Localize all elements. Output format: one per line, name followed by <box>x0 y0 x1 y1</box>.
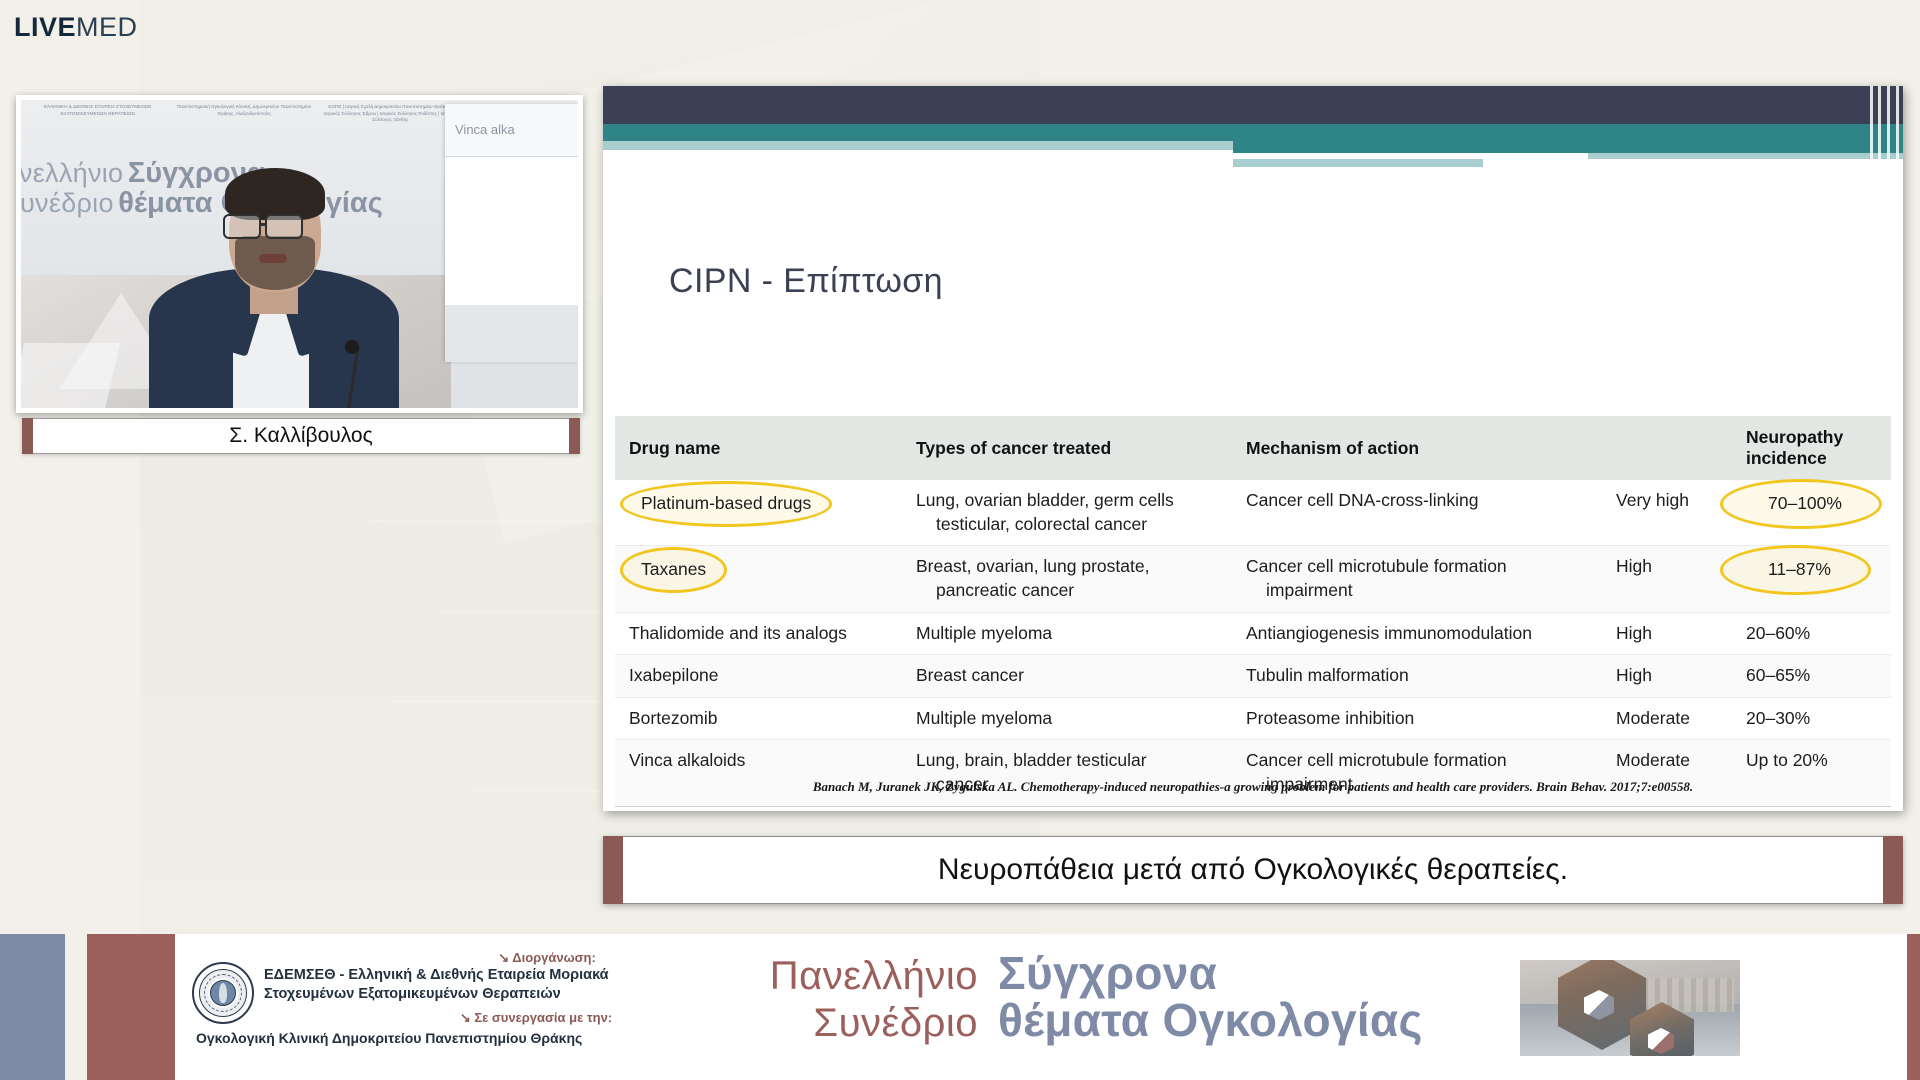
conference-branding: Πανελλήνιο Σύγχρονα Συνέδριο θέματα Ογκο… <box>718 950 1423 1044</box>
speaker-name-plate: Σ. Καλλίβουλος <box>22 418 580 454</box>
cell-incidence: 70–100% <box>1732 480 1891 546</box>
column-header-mechanism: Mechanism of action <box>1232 416 1602 480</box>
footer-red-block <box>87 934 175 1080</box>
slide-accent-bar-a <box>603 141 1233 150</box>
footer-right-red-edge <box>1907 934 1920 1080</box>
video-frame: ΕΛΛΗΝΙΚΗ & ΔΙΕΘΝΗΣ ΕΤΑΙΡΕΙΑ ΣΤΟΧΕΥΜΕΝΩΝ … <box>21 100 578 408</box>
conference-line1-right: Σύγχρονα <box>998 950 1217 997</box>
cell-mechanism: Tubulin malformation <box>1232 655 1602 698</box>
column-header-incidence: Neuropathy incidence <box>1732 416 1891 480</box>
conference-line2-right: θέματα Ογκολογίας <box>998 997 1423 1044</box>
backdrop-header-col3: ΕΟΠΕ | Ιατρική Σχολή Δημοκριτείου Πανεπι… <box>322 104 459 124</box>
talk-caption-text: Νευροπάθεια μετά από Ογκολογικές θεραπεί… <box>938 853 1568 887</box>
backdrop-header-text: ΕΛΛΗΝΙΚΗ & ΔΙΕΘΝΗΣ ΕΤΑΙΡΕΙΑ ΣΤΟΧΕΥΜΕΝΩΝ … <box>29 104 459 124</box>
cell-cancer-types: Multiple myeloma <box>902 697 1232 740</box>
table-row: TaxanesBreast, ovarian, lung prostate,pa… <box>615 546 1891 612</box>
table-header-row: Drug name Types of cancer treated Mechan… <box>615 416 1891 480</box>
drug-name-highlight: Platinum-based drugs <box>629 489 823 519</box>
incidence-highlight: 70–100% <box>1746 489 1864 519</box>
conference-line2-left: Συνέδριο <box>718 1003 978 1044</box>
cell-level: High <box>1602 655 1732 698</box>
table-row: Thalidomide and its analogsMultiple myel… <box>615 612 1891 655</box>
cell-level: High <box>1602 612 1732 655</box>
backdrop-line2-left: Συνέδριο <box>21 188 114 218</box>
cell-incidence: 11–87% <box>1732 546 1891 612</box>
page-footer: ↘ Διοργάνωση: ΕΔΕΜΣΕΘ - Ελληνική & Διεθν… <box>0 934 1920 1080</box>
cell-level: Very high <box>1602 480 1732 546</box>
talk-caption-bar: Νευροπάθεια μετά από Ογκολογικές θεραπεί… <box>603 836 1903 904</box>
slide-accent-bar-b <box>1233 141 1903 153</box>
cell-incidence: 20–30% <box>1732 697 1891 740</box>
backdrop-header-col2: Πανεπιστημιακή Ογκολογική Κλινική, Δημοκ… <box>175 104 312 124</box>
conference-line1-left: Πανελλήνιο <box>718 956 978 997</box>
column-header-cancer-types: Types of cancer treated <box>902 416 1232 480</box>
projected-slide-title: Vinca alka <box>455 122 515 137</box>
microphone-icon <box>345 340 359 354</box>
cell-cancer-types: Lung, brain, bladder testicularcancer <box>902 740 1232 806</box>
cell-cancer-types: Multiple myeloma <box>902 612 1232 655</box>
slide-accent-bar-e <box>1483 159 1903 167</box>
cell-cancer-types: Breast, ovarian, lung prostate,pancreati… <box>902 546 1232 612</box>
speaker-name: Σ. Καλλίβουλος <box>229 424 372 448</box>
logo-text-live: LIVE <box>14 12 76 42</box>
livemed-logo: LIVEMED <box>14 14 138 41</box>
logo-text-med: MED <box>76 12 138 42</box>
slide-vertical-stripes <box>1859 86 1903 176</box>
cipn-incidence-table: Drug name Types of cancer treated Mechan… <box>615 416 1891 807</box>
table-row: BortezomibMultiple myelomaProteasome inh… <box>615 697 1891 740</box>
backdrop-header-col1: ΕΛΛΗΝΙΚΗ & ΔΙΕΘΝΗΣ ΕΤΑΙΡΕΙΑ ΣΤΟΧΕΥΜΕΝΩΝ … <box>29 104 166 124</box>
cell-incidence: Up to 20% <box>1732 740 1891 806</box>
cell-drug-name: Thalidomide and its analogs <box>615 612 902 655</box>
backdrop-line1-left: ανελλήνιο <box>21 158 123 188</box>
cell-level: High <box>1602 546 1732 612</box>
cell-drug-name: Bortezomib <box>615 697 902 740</box>
table-row: Platinum-based drugsLung, ovarian bladde… <box>615 480 1891 546</box>
table-row: IxabepiloneBreast cancerTubulin malforma… <box>615 655 1891 698</box>
slide-accent-bar-f <box>1588 153 1903 159</box>
slide-accent-bar-d <box>1233 159 1483 167</box>
slide-header-teal-band <box>603 124 1903 141</box>
cell-drug-name: Vinca alkaloids <box>615 740 902 806</box>
table-row: Vinca alkaloidsLung, brain, bladder test… <box>615 740 1891 806</box>
cell-level: Moderate <box>1602 740 1732 806</box>
slide-header-navy-band <box>603 86 1903 124</box>
cell-mechanism: Antiangiogenesis immunomodulation <box>1232 612 1602 655</box>
cell-drug-name: Platinum-based drugs <box>615 480 902 546</box>
column-header-level <box>1602 416 1732 480</box>
cell-mechanism: Proteasome inhibition <box>1232 697 1602 740</box>
cell-level: Moderate <box>1602 697 1732 740</box>
cell-drug-name: Ixabepilone <box>615 655 902 698</box>
speaker-video-player[interactable]: ΕΛΛΗΝΙΚΗ & ΔΙΕΘΝΗΣ ΕΤΑΙΡΕΙΑ ΣΤΟΧΕΥΜΕΝΩΝ … <box>16 95 583 413</box>
glasses-icon <box>223 214 261 239</box>
cell-mechanism: Cancer cell microtubule formationimpairm… <box>1232 740 1602 806</box>
presentation-slide: CIPN - Επίπτωση Drug name Types of cance… <box>603 86 1903 811</box>
cell-mechanism: Cancer cell microtubule formationimpairm… <box>1232 546 1602 612</box>
cell-cancer-types: Lung, ovarian bladder, germ cellstesticu… <box>902 480 1232 546</box>
cell-cancer-types: Breast cancer <box>902 655 1232 698</box>
footer-gap <box>65 934 87 1080</box>
cell-mechanism: Cancer cell DNA-cross-linking <box>1232 480 1602 546</box>
cell-incidence: 20–60% <box>1732 612 1891 655</box>
slide-title: CIPN - Επίπτωση <box>669 262 943 301</box>
drug-name-highlight: Taxanes <box>629 555 718 585</box>
incidence-highlight: 11–87% <box>1746 555 1853 585</box>
cell-incidence: 60–65% <box>1732 655 1891 698</box>
speaker-figure <box>149 162 399 408</box>
footer-harbour-artwork <box>1520 960 1740 1056</box>
footer-blue-block <box>0 934 65 1080</box>
projected-slide: Vinca alka <box>445 104 578 362</box>
column-header-drug-name: Drug name <box>615 416 902 480</box>
slide-citation: Banach M, Juranek JK, Zygulska AL. Chemo… <box>603 779 1903 795</box>
cell-drug-name: Taxanes <box>615 546 902 612</box>
